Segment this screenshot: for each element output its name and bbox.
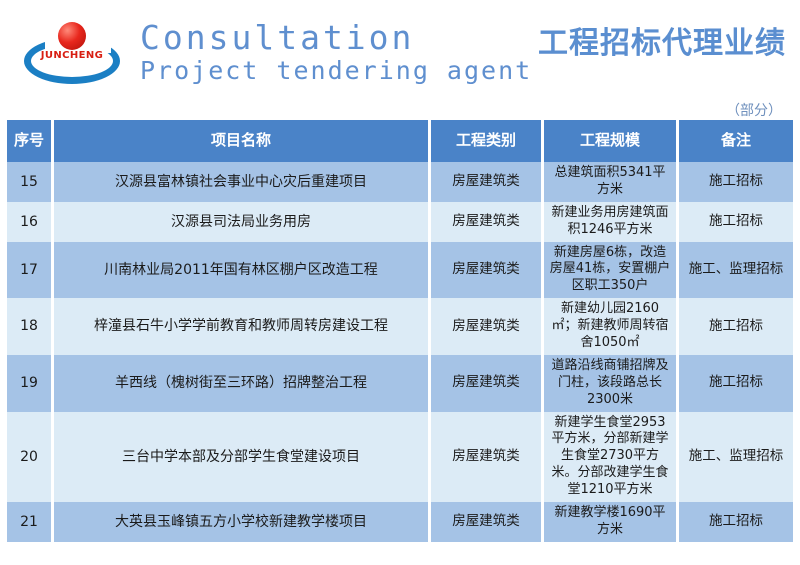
table-row: 17川南林业局2011年国有林区棚户区改造工程房屋建筑类新建房屋6栋，改造房屋4…: [7, 242, 793, 299]
cell-note: 施工招标: [679, 202, 793, 242]
cell-no: 19: [7, 355, 51, 412]
table-row: 16汉源县司法局业务用房房屋建筑类新建业务用房建筑面积1246平方米施工招标: [7, 202, 793, 242]
cell-scale: 新建教学楼1690平方米: [544, 502, 676, 542]
logo-sphere-icon: [58, 22, 86, 50]
cell-note: 施工招标: [679, 162, 793, 202]
cell-type: 房屋建筑类: [431, 502, 541, 542]
cell-type: 房屋建筑类: [431, 298, 541, 355]
cell-no: 15: [7, 162, 51, 202]
cell-scale: 新建幼儿园2160㎡；新建教师周转宿舍1050㎡: [544, 298, 676, 355]
page-header: JUNCHENG Consultation Project tendering …: [0, 0, 800, 104]
table-header-row: 序号 项目名称 工程类别 工程规模 备注: [7, 120, 793, 162]
table-row: 21大英县玉峰镇五方小学校新建教学楼项目房屋建筑类新建教学楼1690平方米施工招…: [7, 502, 793, 542]
cell-type: 房屋建筑类: [431, 242, 541, 299]
performance-table: 序号 项目名称 工程类别 工程规模 备注 15汉源县富林镇社会事业中心灾后重建项…: [4, 120, 796, 542]
cell-scale: 新建学生食堂2953平方米，分部新建学生食堂2730平方米。分部改建学生食堂12…: [544, 412, 676, 502]
cell-no: 21: [7, 502, 51, 542]
cell-scale: 新建房屋6栋，改造房屋41栋，安置棚户区职工350户: [544, 242, 676, 299]
table-body: 15汉源县富林镇社会事业中心灾后重建项目房屋建筑类总建筑面积5341平方米施工招…: [7, 162, 793, 542]
table-row: 19羊西线（槐树街至三环路）招牌整治工程房屋建筑类道路沿线商铺招牌及门柱，该段路…: [7, 355, 793, 412]
cell-scale: 新建业务用房建筑面积1246平方米: [544, 202, 676, 242]
cell-scale: 总建筑面积5341平方米: [544, 162, 676, 202]
cell-name: 大英县玉峰镇五方小学校新建教学楼项目: [54, 502, 428, 542]
cell-name: 梓潼县石牛小学学前教育和教师周转房建设工程: [54, 298, 428, 355]
english-title: Consultation Project tendering agent: [140, 20, 532, 85]
cell-note: 施工招标: [679, 298, 793, 355]
cell-type: 房屋建筑类: [431, 162, 541, 202]
table-row: 20三台中学本部及分部学生食堂建设项目房屋建筑类新建学生食堂2953平方米，分部…: [7, 412, 793, 502]
cell-note: 施工、监理招标: [679, 412, 793, 502]
cell-note: 施工招标: [679, 502, 793, 542]
column-header-no: 序号: [7, 120, 51, 162]
cell-name: 羊西线（槐树街至三环路）招牌整治工程: [54, 355, 428, 412]
cell-no: 17: [7, 242, 51, 299]
page-title: 工程招标代理业绩: [538, 18, 786, 62]
slide-page: JUNCHENG Consultation Project tendering …: [0, 0, 800, 565]
column-header-name: 项目名称: [54, 120, 428, 162]
cell-no: 20: [7, 412, 51, 502]
table-header: 序号 项目名称 工程类别 工程规模 备注: [7, 120, 793, 162]
cell-type: 房屋建筑类: [431, 355, 541, 412]
column-header-scale: 工程规模: [544, 120, 676, 162]
english-title-line2: Project tendering agent: [140, 57, 532, 84]
table-row: 18梓潼县石牛小学学前教育和教师周转房建设工程房屋建筑类新建幼儿园2160㎡；新…: [7, 298, 793, 355]
cell-note: 施工、监理招标: [679, 242, 793, 299]
english-title-line1: Consultation: [140, 20, 532, 56]
cell-no: 16: [7, 202, 51, 242]
column-header-note: 备注: [679, 120, 793, 162]
juncheng-logo: JUNCHENG: [18, 16, 126, 88]
cell-note: 施工招标: [679, 355, 793, 412]
cell-name: 汉源县司法局业务用房: [54, 202, 428, 242]
partial-note: （部分）: [726, 100, 782, 120]
logo-wordmark: JUNCHENG: [18, 50, 126, 61]
cell-scale: 道路沿线商铺招牌及门柱，该段路总长2300米: [544, 355, 676, 412]
cell-name: 汉源县富林镇社会事业中心灾后重建项目: [54, 162, 428, 202]
table-row: 15汉源县富林镇社会事业中心灾后重建项目房屋建筑类总建筑面积5341平方米施工招…: [7, 162, 793, 202]
cell-no: 18: [7, 298, 51, 355]
cell-name: 川南林业局2011年国有林区棚户区改造工程: [54, 242, 428, 299]
cell-type: 房屋建筑类: [431, 202, 541, 242]
cell-name: 三台中学本部及分部学生食堂建设项目: [54, 412, 428, 502]
column-header-type: 工程类别: [431, 120, 541, 162]
cell-type: 房屋建筑类: [431, 412, 541, 502]
